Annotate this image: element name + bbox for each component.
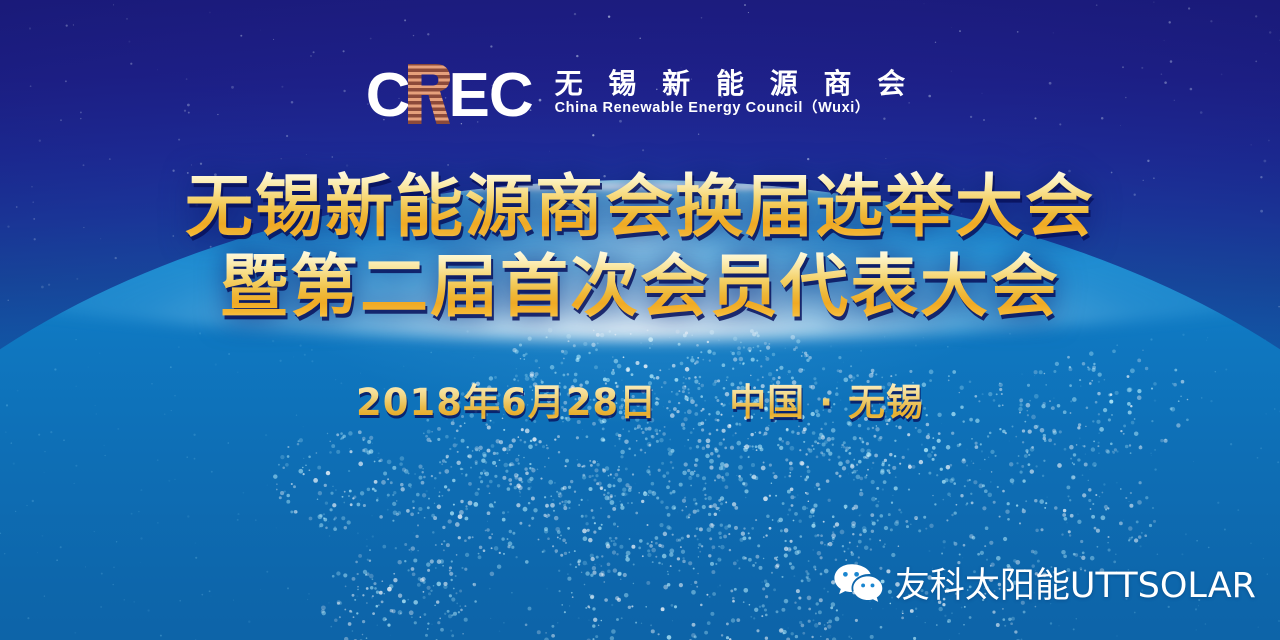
crec-logo: C — [0, 64, 1280, 124]
event-title-line-1: 无锡新能源商会换届选举大会 — [0, 168, 1280, 248]
striped-r-icon — [406, 64, 450, 124]
crec-name-block: 无 锡 新 能 源 商 会 China Renewable Energy Cou… — [555, 70, 915, 118]
wechat-account-name: 友科太阳能UTTSOLAR — [895, 557, 1256, 608]
logo-letter-c: C — [366, 67, 410, 124]
crec-wordmark: C — [366, 64, 533, 124]
logo-chinese-name: 无 锡 新 能 源 商 会 — [555, 70, 915, 98]
event-title: 无锡新能源商会换届选举大会 暨第二届首次会员代表大会 — [0, 168, 1280, 327]
event-date: 2018年6月28日 — [356, 372, 657, 426]
logo-letters-ec: EC — [448, 67, 532, 124]
event-title-line-2: 暨第二届首次会员代表大会 — [0, 248, 1280, 328]
wechat-icon — [833, 562, 883, 604]
logo-english-name: China Renewable Energy Council（Wuxi） — [555, 101, 915, 116]
event-location: 中国 · 无锡 — [729, 372, 924, 426]
event-poster: C — [0, 0, 1280, 640]
event-meta: 2018年6月28日 中国 · 无锡 — [0, 372, 1280, 426]
wechat-watermark: 友科太阳能UTTSOLAR — [833, 557, 1256, 608]
